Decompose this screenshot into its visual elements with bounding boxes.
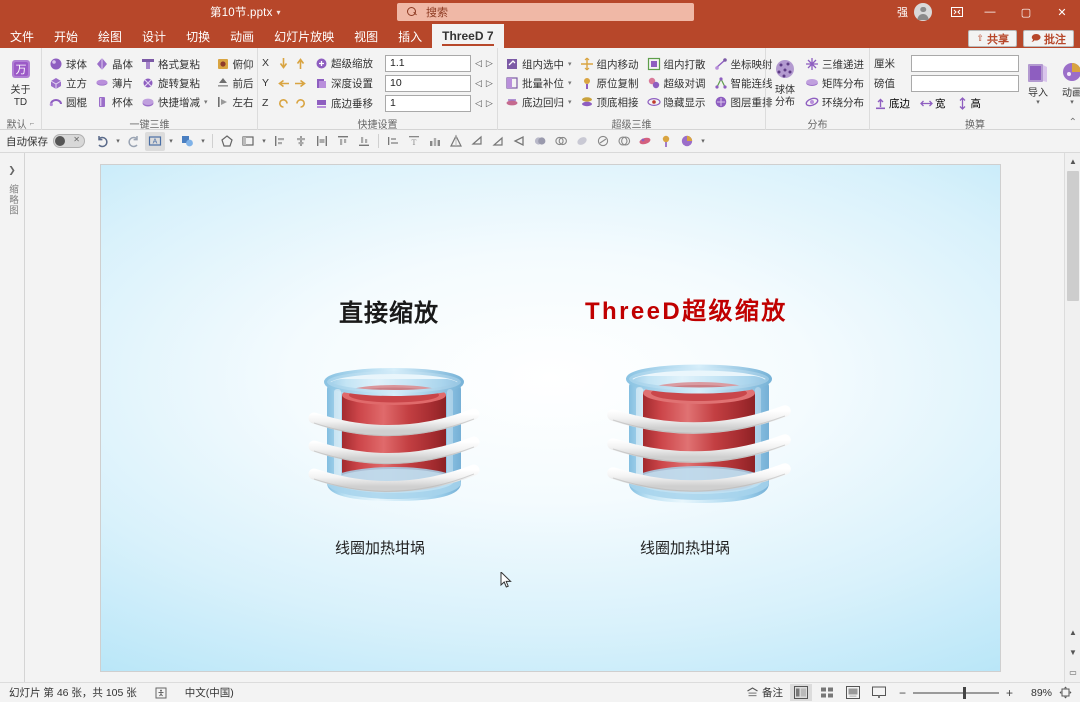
super-zoom-label-wrap: 超级缩放 xyxy=(315,56,381,71)
about-td-button[interactable]: 万 关于 TD xyxy=(4,58,37,108)
tab-design[interactable]: 设计 xyxy=(132,24,176,48)
comment-button[interactable]: 🗩 批注 xyxy=(1023,30,1074,47)
axis-row-z: Z xyxy=(262,94,307,113)
union-icon xyxy=(554,134,568,148)
axis-x-label: X xyxy=(262,57,273,69)
rectangle-caret-icon[interactable]: ▾ xyxy=(259,137,269,145)
z-cw-icon[interactable] xyxy=(294,97,307,110)
matrix-distribute-label: 矩阵分布 xyxy=(822,76,864,91)
super-zoom-decrease[interactable]: ◁ xyxy=(475,58,482,69)
crystal-button[interactable]: 晶体 xyxy=(92,55,136,73)
coordinate-map-icon xyxy=(714,57,728,71)
cylinder-rod-label: 圆棍 xyxy=(66,95,87,110)
crystal-label: 晶体 xyxy=(112,57,133,72)
super3d-col-3: 组内打散 超级对调 隐藏显示 xyxy=(644,55,709,111)
left-right-label: 左右 xyxy=(233,95,254,110)
sphere-distribute-button[interactable]: 球体 分布 xyxy=(770,58,800,108)
top-bottom-join-label: 顶底相接 xyxy=(597,95,639,110)
three-d-progress-button[interactable]: 三维递进 xyxy=(802,55,867,73)
animation-icon xyxy=(1059,61,1080,87)
cup-icon xyxy=(95,95,109,109)
cube-button[interactable]: 立方 xyxy=(46,74,90,92)
move-in-group-label: 组内移动 xyxy=(597,57,639,72)
tab-draw[interactable]: 绘图 xyxy=(88,24,132,48)
intersect-button[interactable] xyxy=(593,132,613,151)
batch-fill-label: 批量补位 xyxy=(522,76,564,91)
threed-red-icon xyxy=(638,134,652,148)
reading-view-button[interactable] xyxy=(842,684,864,701)
tab-file[interactable]: 文件 xyxy=(0,24,44,48)
close-button[interactable]: ✕ xyxy=(1044,0,1080,24)
one-click-col-2: 晶体 薄片 杯体 xyxy=(92,55,136,111)
share-button[interactable]: ⇧ 共享 xyxy=(968,30,1017,47)
undo-caret-icon[interactable]: ▾ xyxy=(113,137,123,145)
about-td-label-bottom: TD xyxy=(14,97,27,108)
ribbon-group-one-click-3d-label: 一键三维 xyxy=(42,116,257,130)
ribbon-group-conversion: 厘米 磅值 底边 xyxy=(869,48,1080,130)
combine-icon xyxy=(575,134,589,148)
axis-row-x: X xyxy=(262,54,307,73)
cube-label: 立方 xyxy=(66,76,87,91)
distribute-horizontal-icon xyxy=(386,134,400,148)
hide-show-label: 隐藏显示 xyxy=(664,95,706,110)
svg-text:T: T xyxy=(412,138,417,147)
copy-in-place-button[interactable]: 原位复制 xyxy=(577,74,642,92)
shape-fill-button[interactable] xyxy=(177,132,197,151)
share-button-label: 共享 xyxy=(987,31,1009,47)
bottom-shift-row: 底边垂移 ◁ ▷ xyxy=(315,94,493,113)
ribbon-group-distribute-label: 分布 xyxy=(766,116,869,130)
search-placeholder: 搜索 xyxy=(426,4,448,20)
batch-fill-caret-icon[interactable]: ▾ xyxy=(568,79,572,87)
text-direction-button[interactable]: T xyxy=(404,132,424,151)
ribbon-group-default-label: 默认 xyxy=(7,116,27,131)
cylinder-rod-button[interactable]: 圆棍 xyxy=(46,93,90,111)
pitch-icon xyxy=(216,57,230,71)
more-commands-icon[interactable]: ▾ xyxy=(698,137,708,145)
distribute-horizontal-button[interactable] xyxy=(383,132,403,151)
intersect-icon xyxy=(596,134,610,148)
super-zoom-icon xyxy=(315,57,328,70)
depth-setting-increase[interactable]: ▷ xyxy=(486,78,493,89)
depth-setting-label-wrap: 深度设置 xyxy=(315,76,381,91)
text-box-icon: A xyxy=(148,134,162,148)
threed-pin-button[interactable] xyxy=(656,132,676,151)
super-zoom-label: 超级缩放 xyxy=(331,56,373,71)
align-bottom-button[interactable] xyxy=(354,132,374,151)
document-title[interactable]: 第10节.pptx ▾ xyxy=(170,4,281,20)
show-presentation-button[interactable]: ▭ xyxy=(1065,662,1080,682)
flag-shape-button[interactable] xyxy=(488,132,508,151)
depth-setting-decrease[interactable]: ◁ xyxy=(475,78,482,89)
bottom-shift-label-wrap: 底边垂移 xyxy=(315,96,381,111)
text-box-button[interactable]: A xyxy=(145,132,165,151)
align-top-button[interactable] xyxy=(333,132,353,151)
bottom-edge-label: 底边 xyxy=(889,96,910,111)
threed-sphere-button[interactable] xyxy=(677,132,697,151)
tab-view[interactable]: 视图 xyxy=(344,24,388,48)
ribbon-group-distribute: 球体 分布 三维递进 矩阵分布 xyxy=(765,48,869,130)
accessibility-glyph xyxy=(155,687,167,699)
zoom-level[interactable]: 89% xyxy=(1022,687,1052,699)
slide-sorter-icon xyxy=(820,686,834,699)
cm-row: 厘米 xyxy=(874,54,1019,73)
zoom-knob[interactable] xyxy=(963,687,966,699)
thumbnail-pane[interactable]: ❯ 缩略图 xyxy=(0,153,25,682)
super3d-col-2: 组内移动 原位复制 顶底相接 xyxy=(577,55,642,111)
left-right-icon xyxy=(216,95,230,109)
point-row: 磅值 xyxy=(874,74,1019,93)
three-d-progress-label: 三维递进 xyxy=(822,57,864,72)
zoom-slider[interactable]: − + xyxy=(898,686,1014,700)
quick-add-remove-button[interactable]: 快捷增减 ▾ xyxy=(138,93,211,111)
matrix-distribute-button[interactable]: 矩阵分布 xyxy=(802,74,867,92)
slide-sorter-button[interactable] xyxy=(816,684,838,701)
play-triangle-icon xyxy=(512,134,526,148)
front-back-button[interactable]: 前后 xyxy=(213,74,257,92)
quick-add-remove-caret-icon[interactable]: ▾ xyxy=(204,98,208,106)
axis-z-label: Z xyxy=(262,97,273,109)
align-left-button[interactable] xyxy=(270,132,290,151)
pentagon-shape-button[interactable] xyxy=(217,132,237,151)
copy-in-place-label: 原位复制 xyxy=(597,76,639,91)
search-icon xyxy=(407,7,418,18)
status-bar-right: 备注 xyxy=(743,684,1080,701)
point-label: 磅值 xyxy=(874,76,906,91)
ribbon-group-quick-settings-label: 快捷设置 xyxy=(258,116,497,130)
play-shape-button[interactable] xyxy=(509,132,529,151)
surround-distribute-icon xyxy=(805,95,819,109)
axis-row-y: Y xyxy=(262,74,307,93)
share-icon: ⇧ xyxy=(976,33,984,44)
cm-label: 厘米 xyxy=(874,56,906,71)
cup-label: 杯体 xyxy=(112,95,133,110)
import-label: 导入 xyxy=(1028,88,1048,99)
conversion-fields: 厘米 磅值 底边 xyxy=(874,54,1019,113)
depth-setting-icon xyxy=(315,77,328,90)
move-in-group-icon xyxy=(580,57,594,71)
ribbon-group-super-3d: 组内选中 ▾ 批量补位 ▾ xyxy=(497,48,765,130)
super-swap-label: 超级对调 xyxy=(664,76,706,91)
bottom-shift-decrease[interactable]: ◁ xyxy=(475,98,482,109)
distribute-col-1: 三维递进 矩阵分布 环绕分布 xyxy=(802,55,867,111)
animation-label: 动画 xyxy=(1062,88,1080,99)
bottom-edge-icon xyxy=(874,97,887,110)
trapezoid-button[interactable] xyxy=(467,132,487,151)
quick-add-remove-label: 快捷增减 xyxy=(158,95,200,110)
tab-threed7[interactable]: ThreeD 7 xyxy=(432,24,503,48)
title-bar: 第10节.pptx ▾ 搜索 强 — ▢ ✕ xyxy=(0,0,1080,24)
search-box[interactable]: 搜索 xyxy=(397,3,694,21)
ribbon-tabs: 文件 开始 绘图 设计 切换 动画 幻灯片放映 视图 插入 ThreeD 7 xyxy=(0,24,1080,48)
subtract-icon xyxy=(617,134,631,148)
bottom-shift-input[interactable] xyxy=(385,95,471,112)
one-click-col-3: 格式复粘 旋转复粘 快捷增减 xyxy=(138,55,211,111)
notes-button[interactable]: 备注 xyxy=(743,684,786,701)
animation-button[interactable]: 动画 ▾ xyxy=(1057,61,1080,106)
crucible-artwork-left[interactable] xyxy=(301,355,487,525)
depth-setting-input[interactable] xyxy=(385,75,471,92)
axis-controls: X Y xyxy=(262,54,307,113)
title-bar-right-controls: 强 — ▢ ✕ xyxy=(897,0,1080,24)
quick-add-remove-icon xyxy=(141,95,155,109)
thumbnail-pane-label: 缩略图 xyxy=(5,184,19,216)
three-d-progress-icon xyxy=(805,57,819,71)
bottom-shift-icon xyxy=(315,97,328,110)
hide-show-icon xyxy=(647,95,661,109)
zoom-track[interactable] xyxy=(913,692,999,694)
expand-panel-icon[interactable]: ❯ xyxy=(8,165,16,176)
minimize-button[interactable]: — xyxy=(972,0,1008,24)
fit-to-window-icon xyxy=(1059,686,1072,699)
ribbon-group-quick-settings: X Y xyxy=(257,48,497,130)
x-down-icon[interactable] xyxy=(277,57,290,70)
select-in-group-caret-icon[interactable]: ▾ xyxy=(568,60,572,68)
svg-text:A: A xyxy=(153,139,158,146)
rotate-paste-icon xyxy=(141,76,155,90)
next-slide-button[interactable]: ▼ xyxy=(1065,642,1080,662)
super-swap-icon xyxy=(647,76,661,90)
format-paste-button[interactable]: 格式复粘 xyxy=(138,55,211,73)
y-left-icon[interactable] xyxy=(277,77,290,90)
subtract-button[interactable] xyxy=(614,132,634,151)
quick-setting-fields: 超级缩放 ◁ ▷ 深度设置 xyxy=(315,54,493,113)
slide-title-left[interactable]: 直接缩放 xyxy=(339,293,439,328)
merge-shapes-icon xyxy=(533,134,547,148)
autosave-toggle[interactable]: ✕ xyxy=(53,134,85,148)
autosave-knob xyxy=(55,136,65,146)
animation-caret-icon[interactable]: ▾ xyxy=(1070,100,1074,106)
flag-shape-icon xyxy=(491,134,505,148)
scrollbar-thumb[interactable] xyxy=(1067,171,1079,301)
ribbon-group-default-label-row: 默认 ⌐ xyxy=(0,116,41,130)
rotate-paste-label: 旋转复粘 xyxy=(158,76,200,91)
bottom-shift-increase[interactable]: ▷ xyxy=(486,98,493,109)
maximize-button[interactable]: ▢ xyxy=(1008,0,1044,24)
import-button[interactable]: 导入 ▾ xyxy=(1023,61,1053,106)
ungroup-icon xyxy=(647,57,661,71)
import-caret-icon[interactable]: ▾ xyxy=(1036,100,1040,106)
rectangle-icon xyxy=(241,134,255,148)
redo-icon xyxy=(127,134,141,148)
depth-setting-row: 深度设置 ◁ ▷ xyxy=(315,74,493,93)
ungroup-button[interactable]: 组内打散 xyxy=(644,55,709,73)
width-button[interactable]: 宽 xyxy=(920,96,946,111)
autosave-label: 自动保存 xyxy=(6,134,48,149)
tab-insert[interactable]: 插入 xyxy=(388,24,432,48)
pitch-button[interactable]: 俯仰 xyxy=(213,55,257,73)
tab-transitions[interactable]: 切换 xyxy=(176,24,220,48)
trapezoid-icon xyxy=(470,134,484,148)
slide-work-area: 直接缩放 ThreeD超级缩放 xyxy=(25,153,1072,682)
rotate-paste-button[interactable]: 旋转复粘 xyxy=(138,74,211,92)
ungroup-label: 组内打散 xyxy=(664,57,706,72)
svg-text:万: 万 xyxy=(15,64,26,76)
notes-icon xyxy=(746,686,759,699)
matrix-distribute-icon xyxy=(805,76,819,90)
sphere-label: 球体 xyxy=(66,57,87,72)
y-right-icon[interactable] xyxy=(294,77,307,90)
align-left-icon xyxy=(273,134,287,148)
slideshow-icon xyxy=(872,686,886,699)
super-zoom-spinner: ◁ ▷ xyxy=(475,58,493,69)
chart-button[interactable] xyxy=(425,132,445,151)
bottom-reset-icon xyxy=(505,95,519,109)
bottom-shift-spinner: ◁ ▷ xyxy=(475,98,493,109)
union-button[interactable] xyxy=(551,132,571,151)
x-up-icon[interactable] xyxy=(294,57,307,70)
ribbon-group-one-click-3d: 球体 立方 xyxy=(41,48,257,130)
cup-button[interactable]: 杯体 xyxy=(92,93,136,111)
bottom-edge-button[interactable]: 底边 xyxy=(874,96,910,111)
align-center-button[interactable] xyxy=(291,132,311,151)
format-paste-label: 格式复粘 xyxy=(158,57,200,72)
avatar[interactable] xyxy=(914,3,932,21)
document-title-text: 第10节.pptx xyxy=(210,4,273,20)
bottom-reset-button[interactable]: 底边回归 ▾ xyxy=(502,93,575,111)
slideshow-button[interactable] xyxy=(868,684,890,701)
slide-canvas[interactable]: 直接缩放 ThreeD超级缩放 xyxy=(101,165,1000,671)
collapse-ribbon-icon[interactable]: ⌃ xyxy=(1069,117,1077,128)
top-bottom-join-icon xyxy=(580,95,594,109)
left-right-button[interactable]: 左右 xyxy=(213,93,257,111)
fit-to-window-button[interactable] xyxy=(1056,684,1074,701)
super-zoom-increase[interactable]: ▷ xyxy=(486,58,493,69)
bottom-shift-label: 底边垂移 xyxy=(331,96,373,111)
crucible-artwork-right[interactable] xyxy=(601,351,797,527)
rectangle-button[interactable] xyxy=(238,132,258,151)
width-label: 宽 xyxy=(935,96,946,111)
triangle-icon xyxy=(449,134,463,148)
batch-fill-icon xyxy=(505,76,519,90)
point-input[interactable] xyxy=(911,75,1019,92)
crystal-icon xyxy=(95,57,109,71)
ribbon-group-super-3d-label: 超级三维 xyxy=(498,116,765,130)
vertical-scrollbar[interactable]: ▲ ▲ ▼ ▭ xyxy=(1064,153,1080,682)
height-button[interactable]: 高 xyxy=(956,96,982,111)
select-in-group-button[interactable]: 组内选中 ▾ xyxy=(502,55,575,73)
comment-button-label: 批注 xyxy=(1044,31,1066,47)
conversion-buttons: 底边 宽 高 xyxy=(874,94,1019,113)
threed-sphere-icon xyxy=(680,134,694,148)
smart-connector-icon xyxy=(714,76,728,90)
autosave-off-mark: ✕ xyxy=(73,135,80,144)
text-box-caret-icon[interactable]: ▾ xyxy=(166,137,176,145)
share-comment-row: ⇧ 共享 🗩 批注 xyxy=(968,30,1074,47)
one-click-col-1: 球体 立方 xyxy=(46,55,90,111)
height-label: 高 xyxy=(971,96,982,111)
format-paste-icon xyxy=(141,57,155,71)
width-icon xyxy=(920,97,933,110)
caption-right[interactable]: 线圈加热坩埚 xyxy=(640,537,730,558)
tab-animations[interactable]: 动画 xyxy=(220,24,264,48)
one-click-col-4: 俯仰 前后 左右 xyxy=(213,55,257,111)
bottom-reset-caret-icon[interactable]: ▾ xyxy=(568,98,572,106)
cube-icon xyxy=(49,76,63,90)
super3d-col-1: 组内选中 ▾ 批量补位 ▾ xyxy=(502,55,575,111)
super-zoom-input[interactable] xyxy=(385,55,471,72)
cylinder-rod-icon xyxy=(49,95,63,109)
redo-button[interactable] xyxy=(124,132,144,151)
tab-home[interactable]: 开始 xyxy=(44,24,88,48)
account-name: 强 xyxy=(897,4,914,20)
align-right-icon xyxy=(315,134,329,148)
mouse-cursor xyxy=(500,572,514,588)
select-in-group-icon xyxy=(505,57,519,71)
text-direction-icon: T xyxy=(407,134,421,148)
triangle-button[interactable] xyxy=(446,132,466,151)
sphere-distribute-label-bottom: 分布 xyxy=(775,97,795,108)
zoom-out-button[interactable]: − xyxy=(898,686,907,700)
dialog-launcher-icon[interactable]: ⌐ xyxy=(30,119,35,128)
align-right-button[interactable] xyxy=(312,132,332,151)
surround-distribute-button[interactable]: 环绕分布 xyxy=(802,93,867,111)
ribbon-display-options-icon[interactable] xyxy=(942,0,972,24)
threed-logo-icon: 万 xyxy=(8,58,34,84)
ribbon-group-default: 万 关于 TD 默认 ⌐ xyxy=(0,48,41,130)
batch-fill-button[interactable]: 批量补位 ▾ xyxy=(502,74,575,92)
status-bar-left: 幻灯片 第 46 张，共 105 张 中文(中国) xyxy=(0,684,237,701)
bottom-reset-label: 底边回归 xyxy=(522,95,564,110)
ribbon-display-glyph xyxy=(951,6,963,18)
select-in-group-label: 组内选中 xyxy=(522,57,564,72)
front-back-icon xyxy=(216,76,230,90)
previous-slide-button[interactable]: ▲ xyxy=(1065,622,1080,642)
normal-view-icon xyxy=(794,686,808,699)
slide-nav-buttons: ▲ ▼ ▭ xyxy=(1065,606,1080,682)
slide-title-right[interactable]: ThreeD超级缩放 xyxy=(585,291,788,326)
language-indicator[interactable]: 中文(中国) xyxy=(182,684,237,701)
zoom-in-button[interactable]: + xyxy=(1005,686,1014,700)
accessibility-check-icon[interactable] xyxy=(152,684,170,701)
depth-setting-spinner: ◁ ▷ xyxy=(475,78,493,89)
depth-setting-label: 深度设置 xyxy=(331,76,373,91)
front-back-label: 前后 xyxy=(233,76,254,91)
document-title-caret-icon[interactable]: ▾ xyxy=(277,8,281,17)
scroll-up-button[interactable]: ▲ xyxy=(1065,153,1080,169)
cm-input[interactable] xyxy=(911,55,1019,72)
top-bottom-join-button[interactable]: 顶底相接 xyxy=(577,93,642,111)
hide-show-button[interactable]: 隐藏显示 xyxy=(644,93,709,111)
combine-button[interactable] xyxy=(572,132,592,151)
coil-heated-crucible-left-svg xyxy=(301,355,487,525)
quick-access-toolbar: 自动保存 ✕ ▾ A ▾ xyxy=(0,130,1080,153)
thin-slice-icon xyxy=(95,76,109,90)
tab-slideshow[interactable]: 幻灯片放映 xyxy=(264,24,344,48)
shape-fill-caret-icon[interactable]: ▾ xyxy=(198,137,208,145)
normal-view-button[interactable] xyxy=(790,684,812,701)
move-in-group-button[interactable]: 组内移动 xyxy=(577,55,642,73)
comment-icon: 🗩 xyxy=(1031,31,1041,47)
ribbon-group-conversion-label: 换算 xyxy=(870,116,1080,130)
undo-icon xyxy=(95,134,109,148)
slide-counter[interactable]: 幻灯片 第 46 张，共 105 张 xyxy=(6,684,140,701)
align-bottom-icon xyxy=(357,134,371,148)
notes-label: 备注 xyxy=(762,685,783,700)
caption-left[interactable]: 线圈加热坩埚 xyxy=(335,537,425,558)
layer-reorder-icon xyxy=(714,95,728,109)
super-swap-button[interactable]: 超级对调 xyxy=(644,74,709,92)
thin-slice-button[interactable]: 薄片 xyxy=(92,74,136,92)
ribbon: 万 关于 TD 默认 ⌐ 球体 xyxy=(0,48,1080,130)
undo-button[interactable] xyxy=(92,132,112,151)
sphere-icon xyxy=(49,57,63,71)
threed-red-button[interactable] xyxy=(635,132,655,151)
z-ccw-icon[interactable] xyxy=(277,97,290,110)
sphere-button[interactable]: 球体 xyxy=(46,55,90,73)
about-td-label-top: 关于 xyxy=(11,85,31,96)
merge-shapes-button[interactable] xyxy=(530,132,550,151)
